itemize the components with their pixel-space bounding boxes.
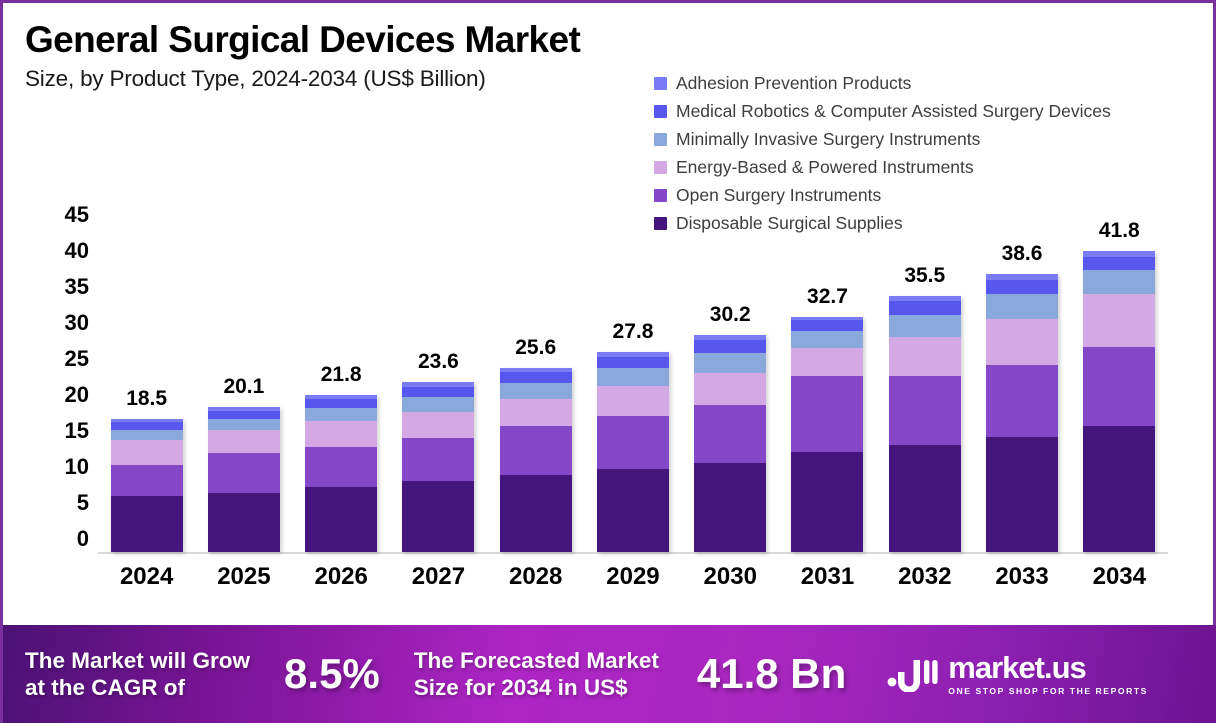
bar-group[interactable]: 25.6 — [488, 228, 584, 552]
x-axis-tick-label: 2028 — [488, 563, 584, 591]
bar-segment[interactable] — [694, 340, 766, 353]
y-axis-tick-label: 0 — [39, 526, 89, 552]
x-axis-tick-label: 2029 — [585, 563, 681, 591]
bar-segment[interactable] — [791, 320, 863, 331]
y-axis-tick-label: 15 — [39, 418, 89, 444]
x-axis-tick-label: 2024 — [98, 563, 194, 591]
bar-stack[interactable] — [305, 395, 377, 552]
bar-segment[interactable] — [305, 447, 377, 487]
bar-segment[interactable] — [889, 301, 961, 315]
bar-segment[interactable] — [500, 372, 572, 383]
bar-segment[interactable] — [208, 419, 280, 431]
market-us-logo-icon — [886, 652, 938, 697]
bar-segment[interactable] — [500, 475, 572, 552]
bar-segment[interactable] — [402, 397, 474, 411]
bar-segment[interactable] — [111, 465, 183, 496]
bar-segment[interactable] — [500, 399, 572, 426]
bar-segment[interactable] — [208, 493, 280, 552]
x-axis-tick-label: 2034 — [1071, 563, 1167, 591]
bar-value-label: 30.2 — [710, 303, 751, 327]
footer-size-label: The Forecasted Market Size for 2034 in U… — [414, 647, 659, 702]
bar-segment[interactable] — [402, 438, 474, 482]
bar-value-label: 23.6 — [418, 350, 459, 374]
bar-segment[interactable] — [986, 437, 1058, 552]
bar-segment[interactable] — [305, 421, 377, 447]
bar-segment[interactable] — [986, 365, 1058, 437]
brand-text: market.us ONE STOP SHOP FOR THE REPORTS — [948, 652, 1148, 696]
bar-stack[interactable] — [889, 296, 961, 552]
bar-segment[interactable] — [1083, 257, 1155, 270]
bar-segment[interactable] — [986, 294, 1058, 318]
bar-segment[interactable] — [889, 445, 961, 552]
bar-segment[interactable] — [1083, 270, 1155, 294]
bar-segment[interactable] — [1083, 426, 1155, 552]
bar-stack[interactable] — [986, 274, 1058, 552]
bar-segment[interactable] — [597, 357, 669, 369]
bar-segment[interactable] — [402, 412, 474, 438]
bar-series-container: 18.520.121.823.625.627.830.232.735.538.6… — [98, 228, 1168, 552]
footer-size-label-line2: Size for 2034 in US$ — [414, 674, 659, 701]
footer-cagr-label-line1: The Market will Grow — [25, 647, 250, 674]
bar-segment[interactable] — [889, 337, 961, 376]
y-axis: 454035302520151050 — [39, 215, 89, 560]
bar-value-label: 18.5 — [126, 387, 167, 411]
bar-segment[interactable] — [791, 452, 863, 552]
bar-segment[interactable] — [208, 453, 280, 493]
bar-segment[interactable] — [791, 331, 863, 348]
footer-cagr-label: The Market will Grow at the CAGR of — [25, 647, 250, 702]
x-axis: 2024202520262027202820292030203120322033… — [98, 563, 1168, 591]
bar-segment[interactable] — [1083, 294, 1155, 347]
footer-banner: The Market will Grow at the CAGR of 8.5%… — [3, 625, 1216, 723]
bar-value-label: 20.1 — [223, 375, 264, 399]
bar-stack[interactable] — [597, 352, 669, 552]
bar-value-label: 38.6 — [1002, 242, 1043, 266]
bar-segment[interactable] — [597, 386, 669, 416]
bar-group[interactable]: 23.6 — [390, 228, 486, 552]
x-axis-tick-label: 2032 — [877, 563, 973, 591]
y-axis-tick-label: 10 — [39, 454, 89, 480]
y-axis-tick-label: 40 — [39, 238, 89, 264]
footer-size-label-line1: The Forecasted Market — [414, 647, 659, 674]
bar-segment[interactable] — [208, 411, 280, 419]
bar-group[interactable]: 30.2 — [682, 228, 778, 552]
bar-segment[interactable] — [111, 496, 183, 552]
bar-segment[interactable] — [694, 463, 766, 552]
bar-segment[interactable] — [500, 383, 572, 399]
brand-tagline: ONE STOP SHOP FOR THE REPORTS — [948, 686, 1148, 696]
footer-cagr-label-line2: at the CAGR of — [25, 674, 250, 701]
bar-segment[interactable] — [694, 373, 766, 405]
bar-stack[interactable] — [402, 382, 474, 552]
brand-logo: market.us ONE STOP SHOP FOR THE REPORTS — [886, 652, 1148, 697]
x-axis-tick-label: 2030 — [682, 563, 778, 591]
y-axis-tick-label: 20 — [39, 382, 89, 408]
bar-stack[interactable] — [791, 317, 863, 552]
x-axis-tick-label: 2025 — [196, 563, 292, 591]
x-axis-tick-label: 2033 — [974, 563, 1070, 591]
footer-cagr-value: 8.5% — [284, 650, 380, 698]
bar-segment[interactable] — [111, 440, 183, 464]
bar-group[interactable]: 20.1 — [196, 228, 292, 552]
bar-value-label: 25.6 — [515, 336, 556, 360]
chart-plot-area: 454035302520151050 18.520.121.823.625.62… — [3, 3, 1216, 613]
bar-group[interactable]: 32.7 — [779, 228, 875, 552]
bar-segment[interactable] — [791, 348, 863, 377]
bar-group[interactable]: 41.8 — [1071, 228, 1167, 552]
x-axis-tick-label: 2027 — [390, 563, 486, 591]
bar-value-label: 27.8 — [613, 320, 654, 344]
bar-group[interactable]: 35.5 — [877, 228, 973, 552]
bar-segment[interactable] — [402, 387, 474, 397]
bar-segment[interactable] — [500, 426, 572, 475]
bar-group[interactable]: 27.8 — [585, 228, 681, 552]
bar-segment[interactable] — [889, 376, 961, 445]
bar-segment[interactable] — [402, 481, 474, 552]
footer-size-value: 41.8 Bn — [697, 650, 846, 698]
bar-segment[interactable] — [1083, 347, 1155, 426]
bar-stack[interactable] — [111, 419, 183, 552]
bar-value-label: 35.5 — [904, 264, 945, 288]
infographic-root: General Surgical Devices Market Size, by… — [0, 0, 1216, 723]
bar-segment[interactable] — [305, 399, 377, 408]
y-axis-tick-label: 30 — [39, 310, 89, 336]
y-axis-tick-label: 35 — [39, 274, 89, 300]
bar-segment[interactable] — [597, 368, 669, 386]
bar-stack[interactable] — [694, 335, 766, 552]
y-axis-tick-label: 45 — [39, 202, 89, 228]
bar-segment[interactable] — [111, 422, 183, 429]
bar-segment[interactable] — [597, 469, 669, 552]
bar-value-label: 21.8 — [321, 363, 362, 387]
x-axis-baseline — [98, 552, 1168, 554]
bar-group[interactable]: 38.6 — [974, 228, 1070, 552]
bar-segment[interactable] — [208, 430, 280, 452]
y-axis-tick-label: 5 — [39, 490, 89, 516]
bar-segment[interactable] — [791, 376, 863, 452]
bar-segment[interactable] — [986, 319, 1058, 365]
x-axis-tick-label: 2031 — [779, 563, 875, 591]
x-axis-tick-label: 2026 — [293, 563, 389, 591]
y-axis-tick-label: 25 — [39, 346, 89, 372]
bar-value-label: 32.7 — [807, 285, 848, 309]
bar-value-label: 41.8 — [1099, 219, 1140, 243]
bar-segment[interactable] — [597, 416, 669, 469]
bar-stack[interactable] — [208, 407, 280, 552]
bar-stack[interactable] — [1083, 251, 1155, 552]
bar-segment[interactable] — [111, 430, 183, 441]
bar-segment[interactable] — [305, 487, 377, 552]
bar-segment[interactable] — [305, 408, 377, 421]
brand-name: market.us — [948, 652, 1148, 683]
bar-stack[interactable] — [500, 368, 572, 552]
bar-group[interactable]: 18.5 — [98, 228, 194, 552]
bar-group[interactable]: 21.8 — [293, 228, 389, 552]
bar-segment[interactable] — [889, 315, 961, 337]
bar-segment[interactable] — [694, 353, 766, 373]
bar-segment[interactable] — [986, 280, 1058, 294]
bar-segment[interactable] — [694, 405, 766, 463]
